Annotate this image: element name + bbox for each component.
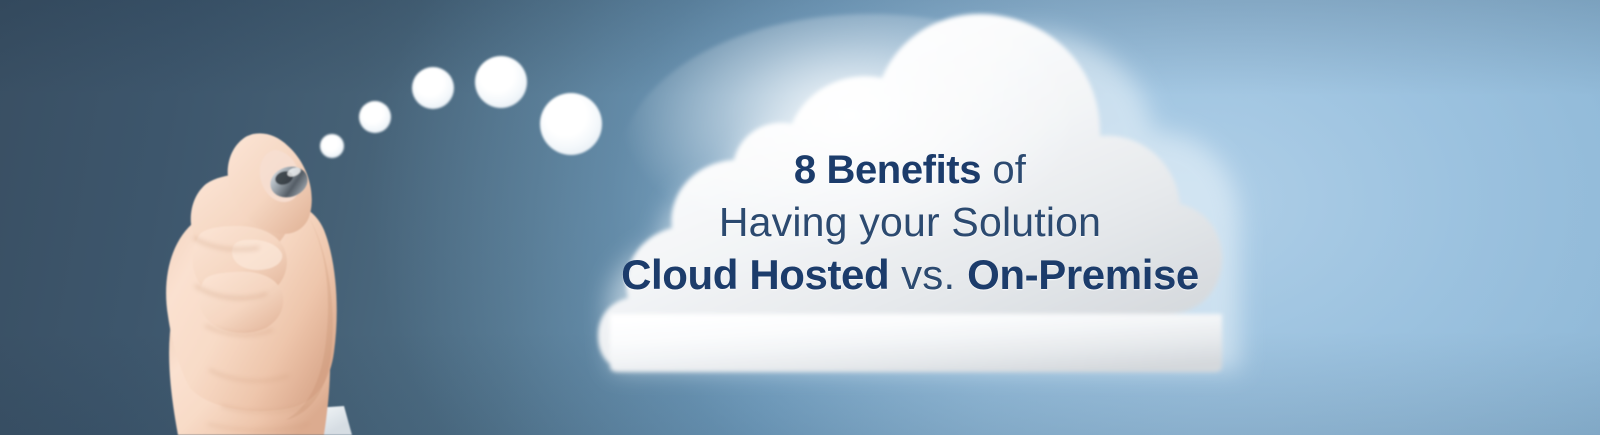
headline-block: 8 Benefits of Having your Solution Cloud…: [520, 150, 1300, 296]
headline-line-3: Cloud Hosted vs. On-Premise: [520, 254, 1300, 296]
trail-dot-3: [412, 67, 454, 109]
headline-line-1: 8 Benefits of: [520, 150, 1300, 190]
cloud-hosting-banner: 8 Benefits of Having your Solution Cloud…: [0, 0, 1600, 435]
headline-benefits-bold: 8 Benefits: [794, 148, 981, 192]
headline-line-2: Having your Solution: [520, 202, 1300, 243]
headline-cloud-hosted-bold: Cloud Hosted: [621, 251, 889, 298]
hand-with-stylus: [148, 120, 388, 435]
headline-on-premise-bold: On-Premise: [967, 251, 1199, 298]
trail-dot-4: [475, 56, 527, 108]
headline-of-light: of: [992, 148, 1026, 192]
headline-vs-light: vs.: [901, 251, 955, 298]
